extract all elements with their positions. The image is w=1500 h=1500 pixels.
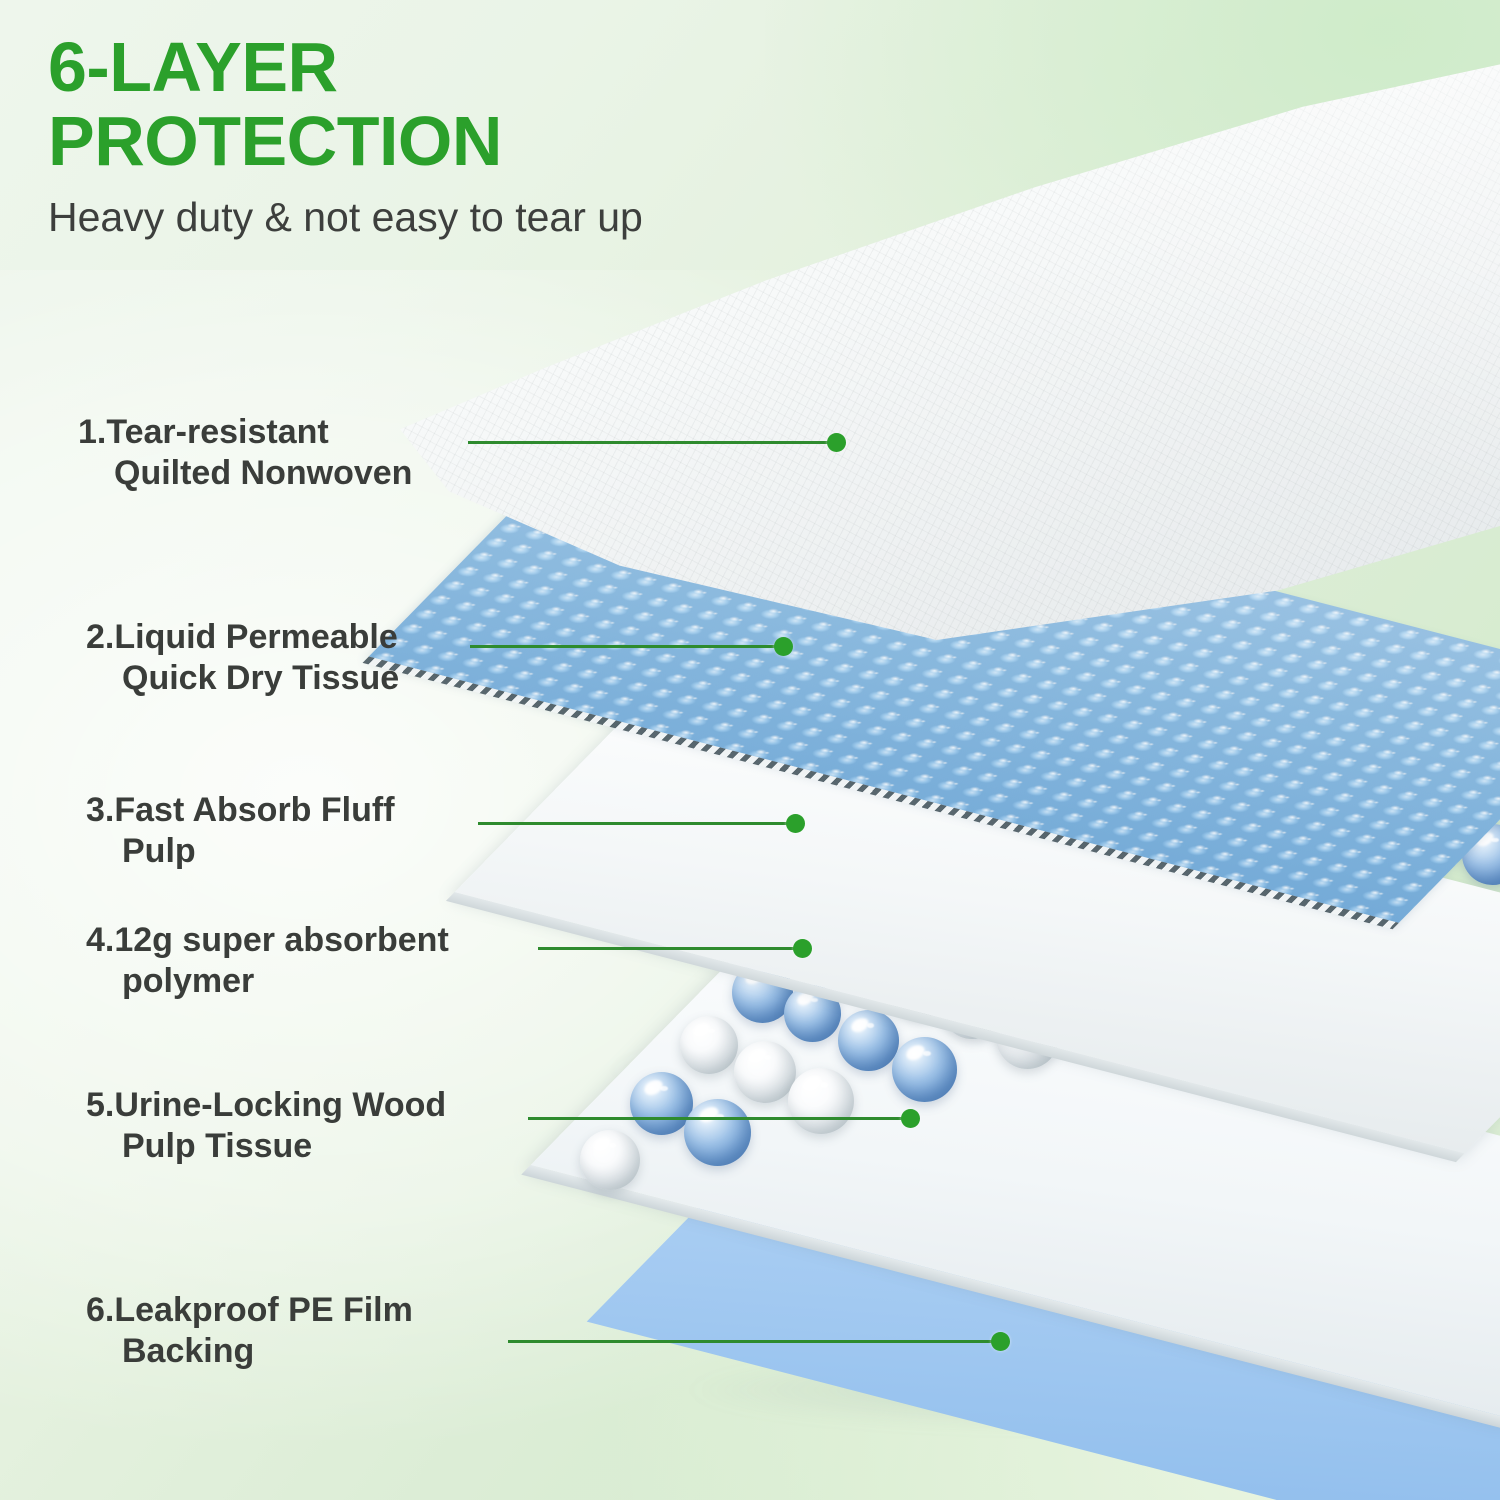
heading-block: 6-LAYER PROTECTION Heavy duty & not easy… (48, 30, 808, 240)
leader-dot-1 (827, 433, 846, 452)
leader-dot-6 (991, 1332, 1010, 1351)
callout-label-6-line2: Backing (86, 1331, 556, 1372)
sap-bead-white (580, 1130, 640, 1190)
bead-specular-highlight-small (660, 1086, 668, 1091)
sap-bead-blue (684, 1099, 751, 1166)
callout-label-4-line2: polymer (86, 961, 556, 1002)
callout-label-5: 5.Urine-Locking Wood Pulp Tissue (86, 1085, 556, 1167)
callout-label-2: 2.Liquid Permeable Quick Dry Tissue (86, 617, 556, 699)
callout-label-3-line1: 3.Fast Absorb Fluff (86, 791, 395, 829)
callout-label-3: 3.Fast Absorb Fluff Pulp (86, 790, 556, 872)
subtitle: Heavy duty & not easy to tear up (48, 194, 808, 240)
bead-specular-highlight-small (820, 1082, 828, 1087)
leader-line-6 (508, 1340, 1006, 1343)
leader-line-5 (528, 1117, 916, 1120)
sap-bead-white (788, 1068, 854, 1134)
sap-bead-white (680, 1016, 738, 1074)
infographic-canvas: 6-LAYER PROTECTION Heavy duty & not easy… (0, 0, 1500, 1500)
bead-specular-highlight-small (609, 1143, 616, 1148)
bead-specular-highlight-small (764, 1055, 771, 1060)
callout-label-1: 1.Tear-resistant Quilted Nonwoven (78, 412, 548, 494)
leader-dot-3 (786, 814, 805, 833)
callout-label-1-line2: Quilted Nonwoven (78, 453, 548, 494)
bead-specular-highlight-small (867, 1023, 874, 1028)
leader-dot-4 (793, 939, 812, 958)
sap-bead-blue (892, 1037, 957, 1102)
callout-label-3-line2: Pulp (86, 831, 556, 872)
bead-specular-highlight-small (1491, 838, 1498, 843)
title-line-2: PROTECTION (48, 104, 808, 178)
callout-label-6-line1: 6.Leakproof PE Film (86, 1291, 413, 1329)
callout-label-2-line2: Quick Dry Tissue (86, 658, 556, 699)
callout-label-1-line1: 1.Tear-resistant (78, 413, 329, 451)
leader-dot-2 (774, 637, 793, 656)
callout-label-6: 6.Leakproof PE Film Backing (86, 1290, 556, 1372)
callout-label-4-line1: 4.12g super absorbent (86, 921, 449, 959)
callout-label-5-line1: 5.Urine-Locking Wood (86, 1086, 446, 1124)
sap-bead-blue (838, 1010, 899, 1071)
leader-line-4 (538, 947, 806, 950)
callout-label-2-line1: 2.Liquid Permeable (86, 618, 398, 656)
callout-label-4: 4.12g super absorbent polymer (86, 920, 556, 1002)
callout-label-5-line2: Pulp Tissue (86, 1126, 556, 1167)
leader-dot-5 (901, 1109, 920, 1128)
bead-specular-highlight-small (708, 1029, 715, 1034)
title-line-1: 6-LAYER (48, 30, 808, 104)
bead-specular-highlight-small (811, 998, 818, 1003)
bead-specular-highlight-small (923, 1051, 931, 1056)
sap-bead-white (734, 1041, 796, 1103)
